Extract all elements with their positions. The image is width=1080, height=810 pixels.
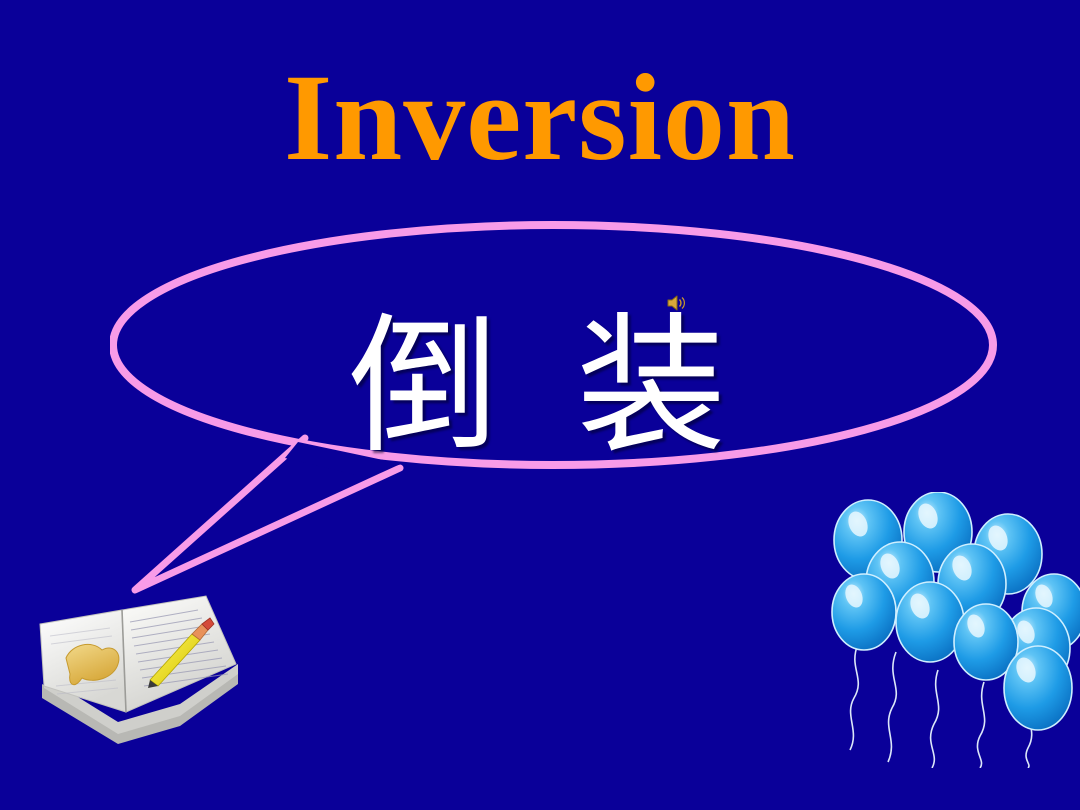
open-book-clipart (30, 588, 252, 746)
callout-text: 倒 装 (330, 312, 760, 462)
slide-title: Inversion (0, 56, 1080, 180)
presentation-slide: Inversion 倒 装 (0, 0, 1080, 810)
speaker-icon[interactable] (666, 292, 688, 314)
balloons-clipart (826, 492, 1080, 768)
